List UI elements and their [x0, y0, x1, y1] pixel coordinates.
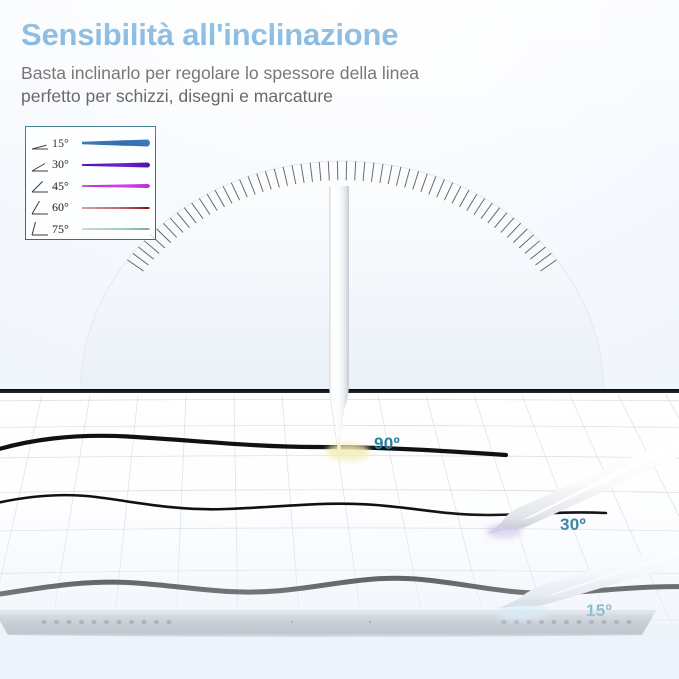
product-feature-image: Sensibilità all'inclinazione Basta incli…: [0, 0, 679, 679]
background-vignette: [0, 0, 679, 679]
